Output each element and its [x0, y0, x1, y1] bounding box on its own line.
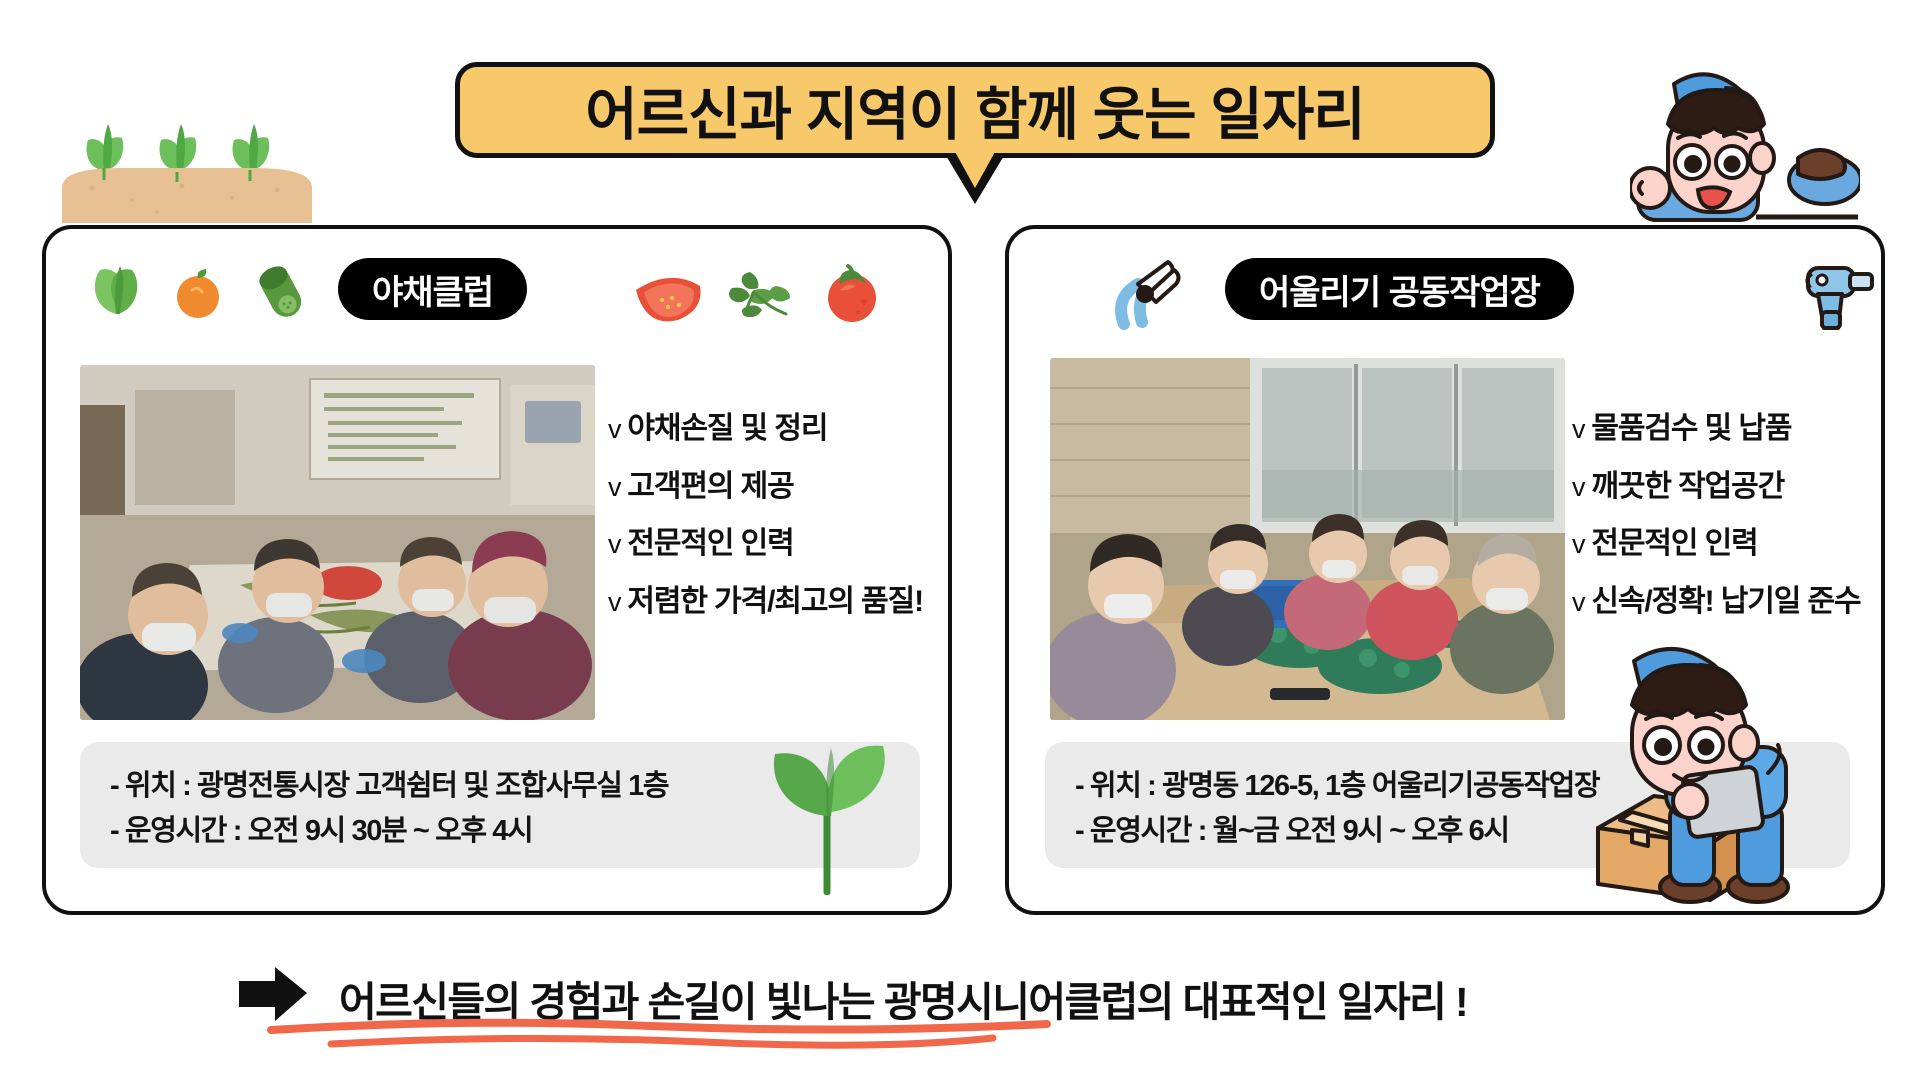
tomato-icon: [820, 262, 884, 324]
poster-canvas: 어르신과 지역이 함께 웃는 일자리: [0, 0, 1920, 1080]
speech-tail-fill: [954, 150, 996, 188]
title-banner: 어르신과 지역이 함께 웃는 일자리: [455, 62, 1495, 158]
worker-mascot-clipboard-icon: [1590, 635, 1900, 905]
card-title-pill-vegetable-club: 야채클럽: [338, 258, 527, 320]
list-item-label: 야채손질 및 정리: [627, 412, 827, 445]
list-item-label: 전문적인 인력: [1591, 527, 1757, 560]
list-item: v전문적인 인력: [1572, 528, 1861, 560]
list-item: v저렴한 가격/최고의 품질!: [608, 586, 923, 618]
photo-joint-workshop: [1050, 358, 1565, 720]
bullet-mark: v: [608, 414, 620, 444]
bullet-mark: v: [608, 529, 620, 559]
list-item: v고객편의 제공: [608, 471, 923, 503]
list-item-label: 저렴한 가격/최고의 품질!: [627, 585, 923, 618]
bullet-mark: v: [608, 472, 620, 502]
parsley-icon: [724, 268, 798, 326]
worker-mascot-peeking-icon: [1630, 62, 1860, 222]
seedling-icon: [755, 720, 905, 895]
photo-vegetable-club: [80, 365, 595, 720]
bullet-mark: v: [1572, 587, 1584, 617]
lettuce-icon: [88, 262, 144, 318]
list-item-label: 고객편의 제공: [627, 470, 793, 503]
page-title: 어르신과 지역이 함께 웃는 일자리: [585, 69, 1365, 151]
feature-list-vegetable-club: v야채손질 및 정리 v고객편의 제공 v전문적인 인력 v저렴한 가격/최고의…: [608, 413, 923, 643]
orange-icon: [172, 268, 224, 320]
feature-list-joint-workshop: v물품검수 및 납품 v깨끗한 작업공간 v전문적인 인력 v신속/정확! 납기…: [1572, 413, 1861, 643]
tomato-slice-icon: [632, 272, 704, 324]
list-item: v야채손질 및 정리: [608, 413, 923, 445]
list-item: v신속/정확! 납기일 준수: [1572, 586, 1861, 618]
bullet-mark: v: [1572, 529, 1584, 559]
garden-plants-icon: [62, 118, 322, 223]
list-item: v깨끗한 작업공간: [1572, 471, 1861, 503]
drill-icon: [1798, 252, 1884, 338]
card-title-pill-joint-workshop: 어울리기 공동작업장: [1225, 258, 1574, 320]
cucumber-icon: [250, 262, 312, 322]
pliers-icon: [1112, 258, 1188, 330]
caption-underline: [265, 1012, 1055, 1056]
list-item-label: 깨끗한 작업공간: [1591, 470, 1784, 503]
bullet-mark: v: [1572, 472, 1584, 502]
card-title-vegetable-club: 야채클럽: [372, 265, 493, 314]
bullet-mark: v: [608, 587, 620, 617]
list-item: v물품검수 및 납품: [1572, 413, 1861, 445]
bullet-mark: v: [1572, 414, 1584, 444]
list-item: v전문적인 인력: [608, 528, 923, 560]
list-item-label: 물품검수 및 납품: [1591, 412, 1791, 445]
list-item-label: 전문적인 인력: [627, 527, 793, 560]
card-title-joint-workshop: 어울리기 공동작업장: [1259, 265, 1540, 314]
list-item-label: 신속/정확! 납기일 준수: [1591, 585, 1860, 618]
